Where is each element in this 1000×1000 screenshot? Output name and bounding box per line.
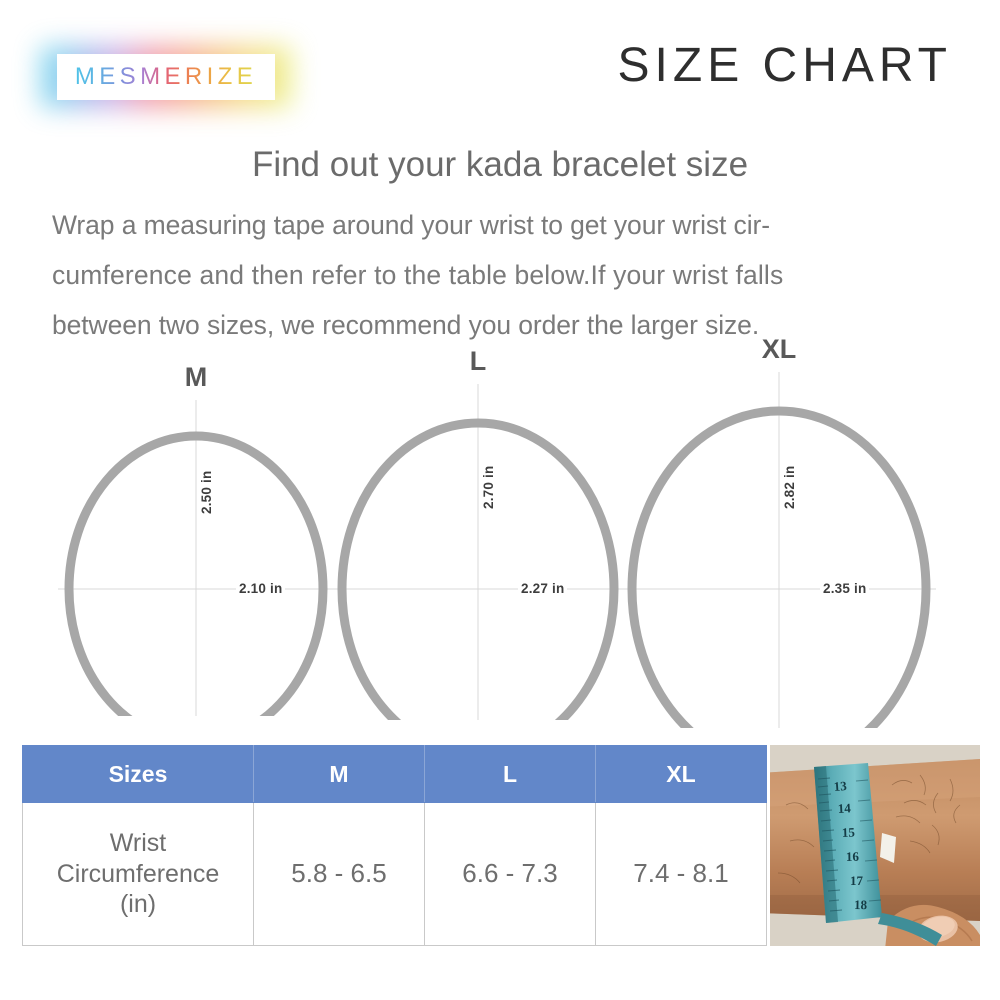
table-header-xl: XL [596, 746, 767, 803]
table-header-sizes: Sizes [23, 746, 254, 803]
ring-oval-l [332, 348, 624, 720]
svg-text:16: 16 [846, 849, 860, 864]
table-row: Wrist Circumference (in) 5.8 - 6.5 6.6 -… [23, 803, 767, 946]
ring-oval-m [58, 364, 334, 716]
logo-box: MESMERIZE [57, 54, 275, 100]
ring-width-label-xl: 2.35 in [820, 580, 869, 597]
ring-height-label-xl: 2.82 in [781, 464, 798, 511]
wrist-measurement-photo: 13 14 15 16 17 18 [770, 745, 980, 946]
ring-height-label-m: 2.50 in [198, 469, 215, 516]
brand-logo: MESMERIZE [40, 46, 292, 108]
ring-group-xl: XL 2.82 in 2.35 in [622, 336, 936, 728]
ring-width-label-l: 2.27 in [518, 580, 567, 597]
svg-text:14: 14 [837, 800, 851, 816]
cell-wrist-m: 5.8 - 6.5 [254, 803, 425, 946]
intro-paragraph: Wrap a measuring tape around your wrist … [52, 200, 952, 350]
page-title: SIZE CHART [618, 42, 952, 90]
ring-group-m: M 2.50 in 2.10 in [58, 364, 334, 716]
row-label-line-2: Circumference [27, 859, 249, 890]
cell-wrist-xl: 7.4 - 8.1 [596, 803, 767, 946]
svg-text:18: 18 [854, 897, 868, 912]
intro-line-1: Wrap a measuring tape around your wrist … [52, 200, 952, 250]
wrist-photo-illustration: 13 14 15 16 17 18 [770, 745, 980, 946]
ring-width-label-m: 2.10 in [236, 580, 285, 597]
table-header-row: Sizes M L XL [23, 746, 767, 803]
svg-text:15: 15 [842, 825, 856, 840]
row-label-line-3: (in) [27, 889, 249, 920]
table-header-l: L [425, 746, 596, 803]
ring-diagrams: M 2.50 in 2.10 in L 2.70 in 2.27 in XL 2… [0, 340, 1000, 740]
logo-text: MESMERIZE [75, 63, 257, 91]
intro-line-2: cumference and then refer to the table b… [52, 250, 952, 300]
size-table: Sizes M L XL Wrist Circumference (in) 5.… [22, 745, 767, 946]
ring-height-label-l: 2.70 in [480, 464, 497, 511]
table-header-m: M [254, 746, 425, 803]
cell-wrist-l: 6.6 - 7.3 [425, 803, 596, 946]
ring-group-l: L 2.70 in 2.27 in [332, 348, 624, 720]
row-label-wrist-circumference: Wrist Circumference (in) [23, 803, 254, 946]
ring-oval-xl [622, 336, 936, 728]
row-label-line-1: Wrist [27, 828, 249, 859]
svg-text:17: 17 [850, 873, 864, 888]
section-heading: Find out your kada bracelet size [0, 146, 1000, 185]
svg-text:13: 13 [833, 778, 848, 794]
